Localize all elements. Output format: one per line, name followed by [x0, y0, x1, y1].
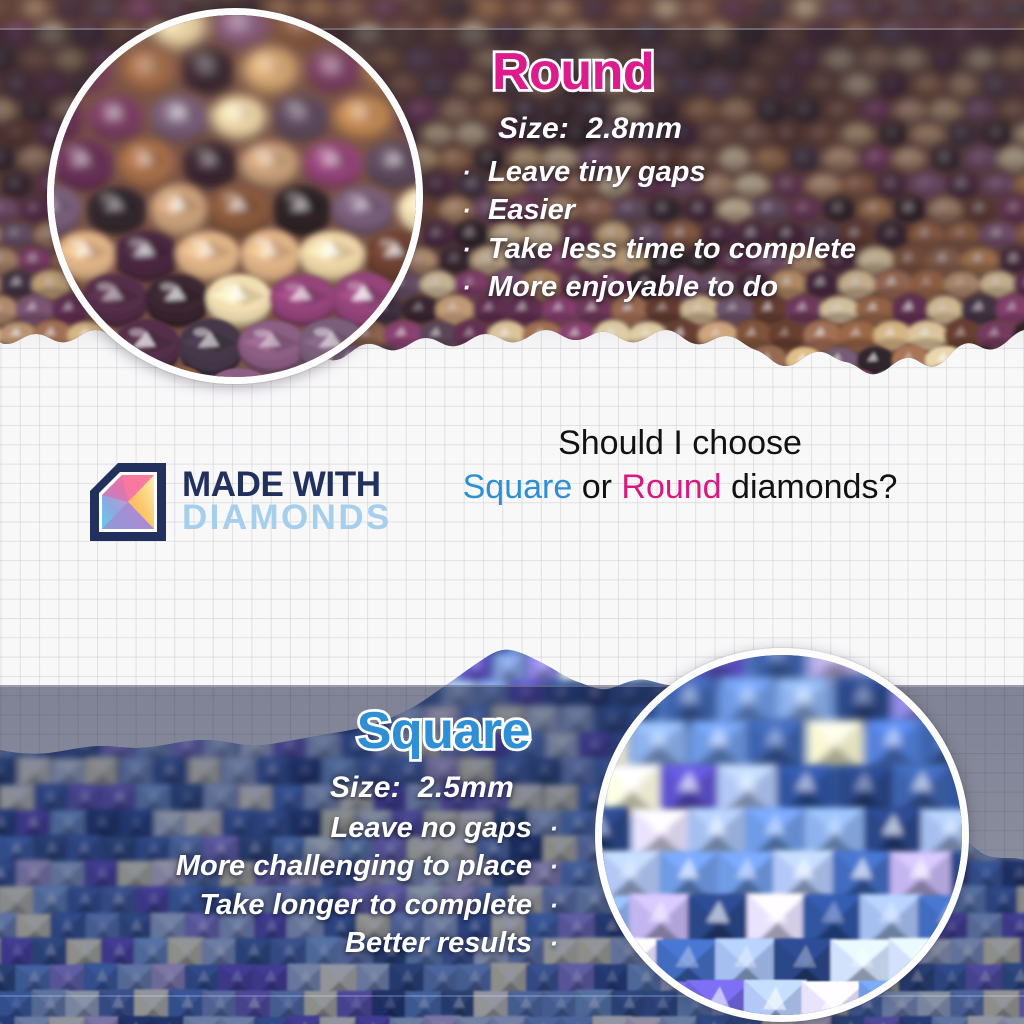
square-traits-list: Leave no gaps · More challenging to plac…: [0, 809, 560, 962]
round-size-line: Size: 2.8mm: [498, 112, 998, 146]
list-item: Better results ·: [0, 924, 560, 962]
bullet-dot-icon: ·: [532, 892, 558, 918]
list-item-label: Easier: [488, 191, 575, 229]
list-item: Leave no gaps ·: [0, 809, 560, 847]
diamond-gem-icon: [88, 461, 168, 543]
round-drill-closeup-icon: [54, 15, 416, 377]
round-info-block: Round Size: 2.8mm · Leave tiny gaps · Ea…: [458, 46, 998, 306]
bullet-dot-icon: ·: [462, 159, 488, 185]
round-title-row: Round: [458, 46, 998, 98]
list-item-label: More challenging to place: [176, 847, 532, 885]
list-item-label: Take less time to complete: [488, 230, 856, 268]
list-item: · Take less time to complete: [458, 230, 998, 268]
headline-keyword-square: Square: [463, 468, 573, 506]
list-item-label: Better results: [345, 924, 532, 962]
bullet-dot-icon: ·: [532, 853, 558, 879]
bullet-dot-icon: ·: [462, 197, 488, 223]
list-item-label: Leave no gaps: [331, 809, 532, 847]
bullet-dot-icon: ·: [462, 274, 488, 300]
bullet-dot-icon: ·: [462, 236, 488, 262]
square-title-row: Square: [0, 705, 560, 757]
list-item: · Leave tiny gaps: [458, 153, 998, 191]
round-title: Round: [492, 46, 654, 98]
headline-tail: diamonds?: [722, 468, 898, 506]
center-headline: Should I choose Square or Round diamonds…: [420, 422, 940, 509]
list-item: · Easier: [458, 191, 998, 229]
square-drill-closeup-icon: [602, 655, 962, 1015]
brand-wordmark: MADE WITH DIAMONDS: [182, 469, 392, 535]
square-size-line: Size: 2.5mm: [0, 771, 560, 805]
square-info-block: Square Size: 2.5mm Leave no gaps · More …: [0, 705, 560, 962]
list-item: Take longer to complete ·: [0, 886, 560, 924]
bullet-dot-icon: ·: [532, 815, 558, 841]
headline-keyword-round: Round: [621, 468, 721, 506]
list-item-label: Take longer to complete: [200, 886, 533, 924]
brand-line-2: DIAMONDS: [182, 502, 392, 535]
list-item-label: More enjoyable to do: [488, 268, 778, 306]
brand-logo[interactable]: MADE WITH DIAMONDS: [88, 461, 392, 543]
infographic-canvas: Round Size: 2.8mm · Leave tiny gaps · Ea…: [0, 0, 1024, 1024]
headline-line-2: Square or Round diamonds?: [420, 466, 940, 510]
headline-line-1: Should I choose: [420, 422, 940, 466]
bullet-dot-icon: ·: [532, 930, 558, 956]
list-item: · More enjoyable to do: [458, 268, 998, 306]
round-drill-magnifier-circle: [47, 8, 423, 384]
list-item: More challenging to place ·: [0, 847, 560, 885]
round-benefits-list: · Leave tiny gaps · Easier · Take less t…: [458, 153, 998, 306]
square-title: Square: [357, 705, 530, 757]
list-item-label: Leave tiny gaps: [488, 153, 706, 191]
square-drill-magnifier-circle: [595, 648, 969, 1022]
headline-conjunction: or: [572, 468, 621, 506]
